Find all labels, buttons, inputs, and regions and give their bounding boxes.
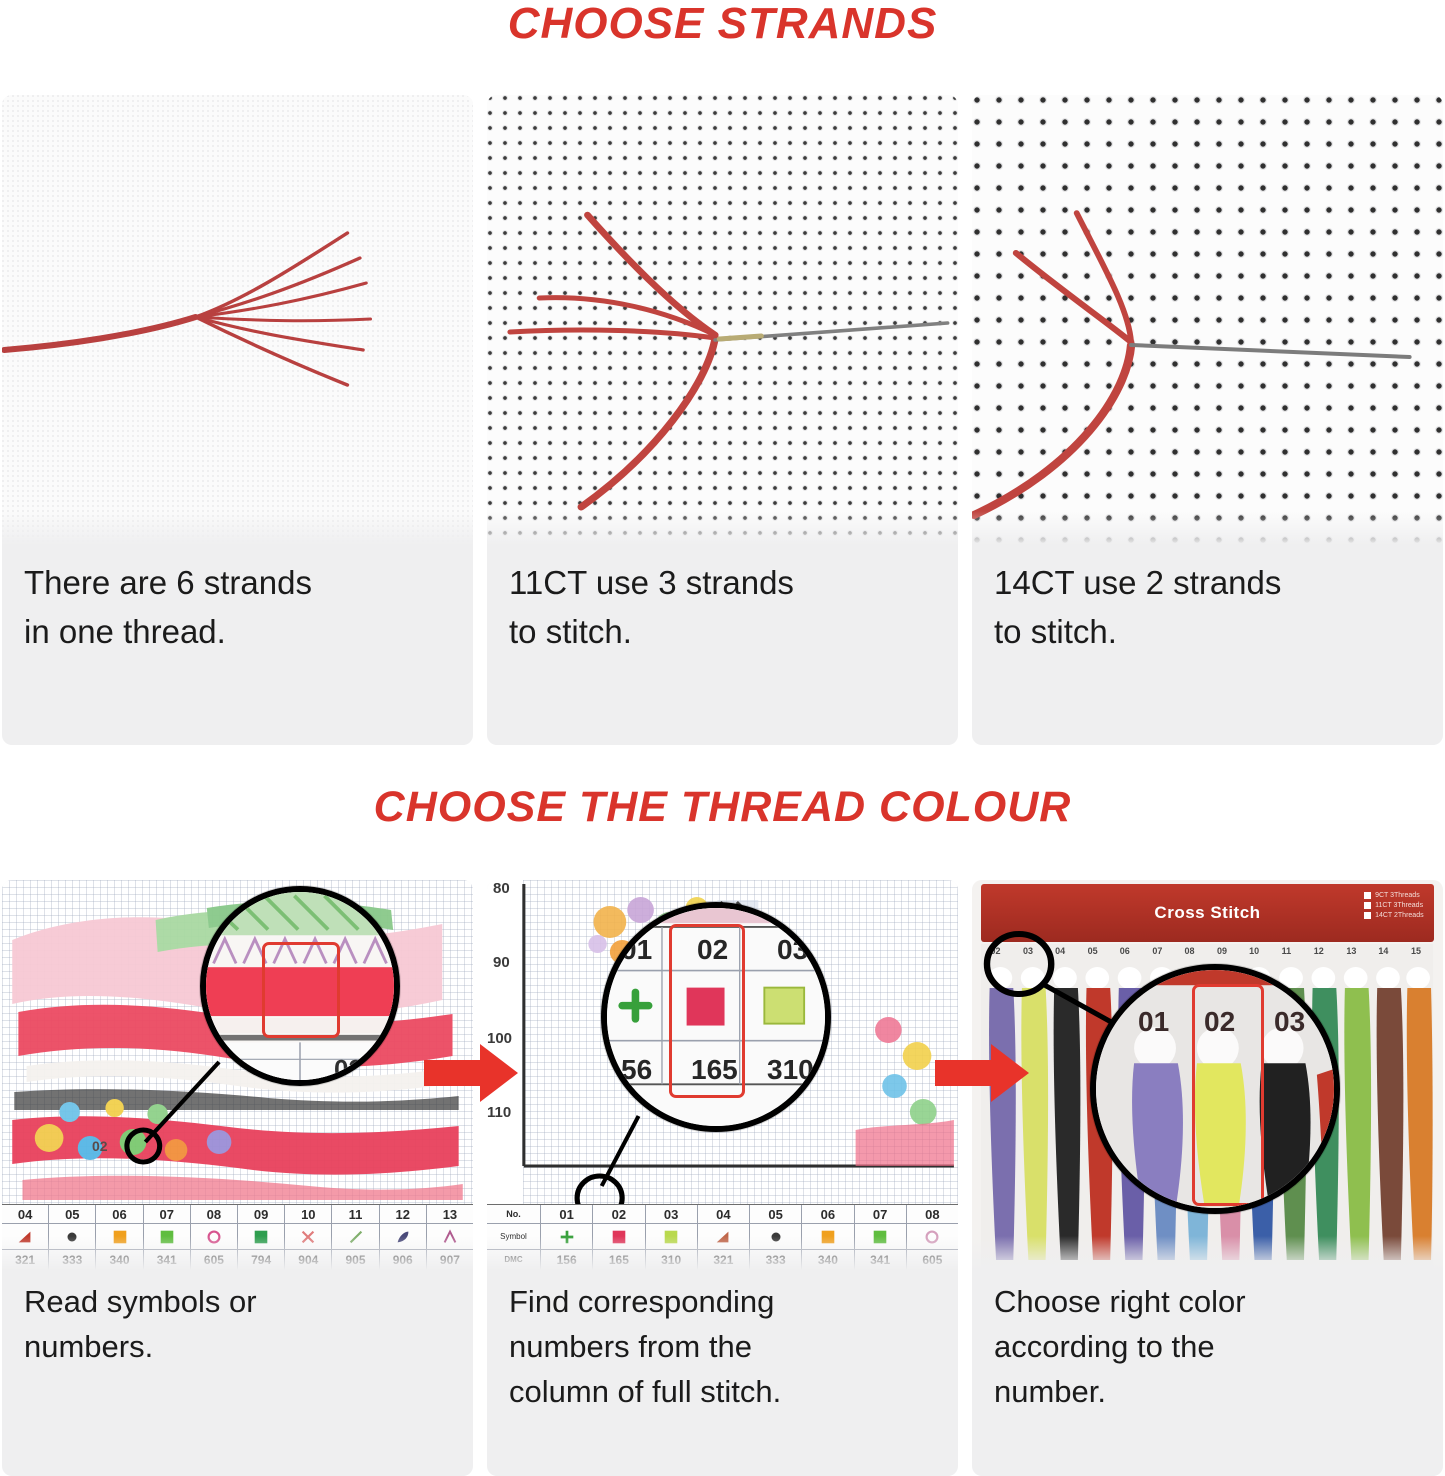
legend-num: 05 <box>750 1205 802 1224</box>
arrow-step-1-to-2 <box>424 1042 520 1104</box>
organizer-checkbox-item: 14CT 2Threads <box>1364 912 1424 919</box>
legend-num: 09 <box>238 1205 285 1224</box>
caption-choose-color: Choose right color according to the numb… <box>972 1270 1443 1476</box>
caption-line: There are 6 strands <box>24 559 451 608</box>
thread-splitting-into-strands-photo <box>2 95 473 545</box>
caption-line: numbers. <box>24 1325 451 1370</box>
checkbox-icon <box>1364 912 1371 919</box>
magnified-chart-content: 01 02 03 56 165 310 <box>607 908 825 1126</box>
chart-row-label: 110 <box>487 1104 511 1121</box>
photo-bottom-fade <box>972 511 1443 545</box>
two-strands-and-needle-illustration <box>972 95 1443 545</box>
caption-line: Read symbols or <box>24 1280 451 1325</box>
skein-number: 04 <box>1055 946 1065 956</box>
legend-num: 10 <box>285 1205 332 1224</box>
infographic-page: CHOOSE STRANDS <box>0 0 1445 1476</box>
needle-shaft <box>1131 345 1409 357</box>
photo-bottom-fade <box>972 1236 1443 1270</box>
needle-eye <box>719 336 761 339</box>
caption-14ct: 14CT use 2 strands to stitch. <box>972 545 1443 745</box>
skein-number: 15 <box>1411 946 1421 956</box>
legend-num: 01 <box>541 1205 593 1224</box>
card-choose-color: Cross Stitch 9CT 3Threads 11CT 3Threads <box>972 880 1443 1476</box>
three-strands-and-needle-illustration <box>487 95 958 545</box>
magnifier-lens-chart: 01 02 03 56 165 310 <box>601 902 831 1132</box>
strand-cards-row: There are 6 strands in one thread. <box>0 95 1445 745</box>
legend-num: 04 <box>2 1205 49 1224</box>
legend-column-numbers: 04 05 06 07 08 09 10 11 12 13 <box>2 1205 473 1224</box>
skein-number: 09 <box>1217 946 1227 956</box>
caption-line: number. <box>994 1370 1421 1415</box>
caption-line: Choose right color <box>994 1280 1421 1325</box>
photo-bottom-fade <box>487 1236 958 1270</box>
caption-line: column of full stitch. <box>509 1370 936 1415</box>
section-title-choose-strands: CHOOSE STRANDS <box>0 2 1445 46</box>
caption-read-symbols: Read symbols or numbers. <box>2 1270 473 1476</box>
highlight-box-magnified <box>1192 984 1264 1206</box>
magnified-dmc-code: 56 <box>621 1054 652 1086</box>
caption-line: 11CT use 3 strands <box>509 559 936 608</box>
caption-line: 14CT use 2 strands <box>994 559 1421 608</box>
caption-find-numbers: Find corresponding numbers from the colu… <box>487 1270 958 1476</box>
caption-line: to stitch. <box>994 608 1421 657</box>
skein-number: 08 <box>1184 946 1194 956</box>
card-find-numbers: 80 90 100 110 <box>487 880 958 1476</box>
photo-bottom-fade <box>2 1236 473 1270</box>
skein-number: 12 <box>1314 946 1324 956</box>
legend-num: 05 <box>49 1205 96 1224</box>
thread-organizer-card-with-magnifier: Cross Stitch 9CT 3Threads 11CT 3Threads <box>972 880 1443 1270</box>
14ct-aida-needle-photo <box>972 95 1443 545</box>
six-strands-illustration <box>2 95 473 545</box>
legend-num: 06 <box>802 1205 854 1224</box>
highlight-box-magnified <box>669 924 745 1098</box>
legend-num: 03 <box>646 1205 698 1224</box>
skein-number: 13 <box>1346 946 1356 956</box>
photo-bottom-fade <box>487 511 958 545</box>
legend-column-numbers: No. 01 02 03 04 05 06 07 08 <box>487 1205 958 1224</box>
card-14ct: 14CT use 2 strands to stitch. <box>972 95 1443 745</box>
section-title-choose-thread-colour: CHOOSE THE THREAD COLOUR <box>0 786 1445 829</box>
caption-six-strands: There are 6 strands in one thread. <box>2 545 473 745</box>
skein-number: 06 <box>1120 946 1130 956</box>
legend-num: 07 <box>144 1205 191 1224</box>
magnified-column-number: 01 <box>1138 1006 1169 1038</box>
skein-number: 11 <box>1282 946 1292 956</box>
skein-number: 03 <box>1023 946 1033 956</box>
magnifier-lens-threads: 01 02 03 <box>1090 964 1340 1214</box>
magnified-dmc-code: 310 <box>767 1054 814 1086</box>
11ct-aida-needle-photo <box>487 95 958 545</box>
skein-number: 02 <box>990 946 1000 956</box>
checkbox-label: 11CT 3Threads <box>1375 902 1423 909</box>
magnifier-lens-pattern: 02 <box>200 886 400 1086</box>
organizer-checkbox-item: 9CT 3Threads <box>1364 892 1424 899</box>
legend-num: 07 <box>855 1205 907 1224</box>
legend-num: 08 <box>191 1205 238 1224</box>
legend-num: 12 <box>380 1205 427 1224</box>
caption-line: Find corresponding <box>509 1280 936 1325</box>
organizer-title: Cross Stitch <box>1154 903 1260 923</box>
stitched-pattern-with-magnifier: 02 02 04 05 06 07 08 <box>2 880 473 1270</box>
legend-num: 02 <box>593 1205 645 1224</box>
legend-num: 08 <box>907 1205 958 1224</box>
organizer-header-banner: Cross Stitch 9CT 3Threads 11CT 3Threads <box>981 884 1433 942</box>
organizer-checkbox-list: 9CT 3Threads 11CT 3Threads 14CT 2Threads <box>1364 892 1424 919</box>
magnified-thread-content: 01 02 03 <box>1096 970 1334 1208</box>
legend-num: 11 <box>332 1205 379 1224</box>
legend-num: 04 <box>698 1205 750 1224</box>
legend-num: 06 <box>96 1205 143 1224</box>
chart-cell-label: 02 <box>92 1138 108 1154</box>
magnified-column-number: 03 <box>777 934 808 966</box>
thread-colour-cards-row: 02 02 04 05 06 07 08 <box>0 880 1445 1476</box>
caption-line: numbers from the <box>509 1325 936 1370</box>
legend-row-header: No. <box>487 1205 541 1224</box>
legend-num: 13 <box>427 1205 473 1224</box>
caption-line: in one thread. <box>24 608 451 657</box>
checkbox-label: 9CT 3Threads <box>1375 892 1420 899</box>
chart-row-label: 90 <box>493 954 510 971</box>
card-six-strands: There are 6 strands in one thread. <box>2 95 473 745</box>
card-read-symbols: 02 02 04 05 06 07 08 <box>2 880 473 1476</box>
arrow-step-2-to-3 <box>935 1042 1031 1104</box>
highlight-box-magnified <box>262 942 340 1038</box>
skein-number: 05 <box>1088 946 1098 956</box>
magnified-pattern-content: 02 <box>206 892 394 1080</box>
skein-number: 07 <box>1152 946 1162 956</box>
photo-bottom-fade <box>2 511 473 545</box>
chart-row-label: 80 <box>493 880 510 897</box>
checkbox-label: 14CT 2Threads <box>1375 912 1424 919</box>
checkbox-icon <box>1364 892 1371 899</box>
printed-chart-with-magnifier: 80 90 100 110 <box>487 880 958 1270</box>
caption-line: to stitch. <box>509 608 936 657</box>
card-11ct: 11CT use 3 strands to stitch. <box>487 95 958 745</box>
magnified-column-number: 01 <box>621 934 652 966</box>
magnified-column-number: 03 <box>1274 1006 1305 1038</box>
caption-line: according to the <box>994 1325 1421 1370</box>
caption-11ct: 11CT use 3 strands to stitch. <box>487 545 958 745</box>
skein-number: 10 <box>1249 946 1259 956</box>
checkbox-icon <box>1364 902 1371 909</box>
skein-number: 14 <box>1378 946 1388 956</box>
organizer-checkbox-item: 11CT 3Threads <box>1364 902 1424 909</box>
green-swatch <box>764 988 804 1024</box>
